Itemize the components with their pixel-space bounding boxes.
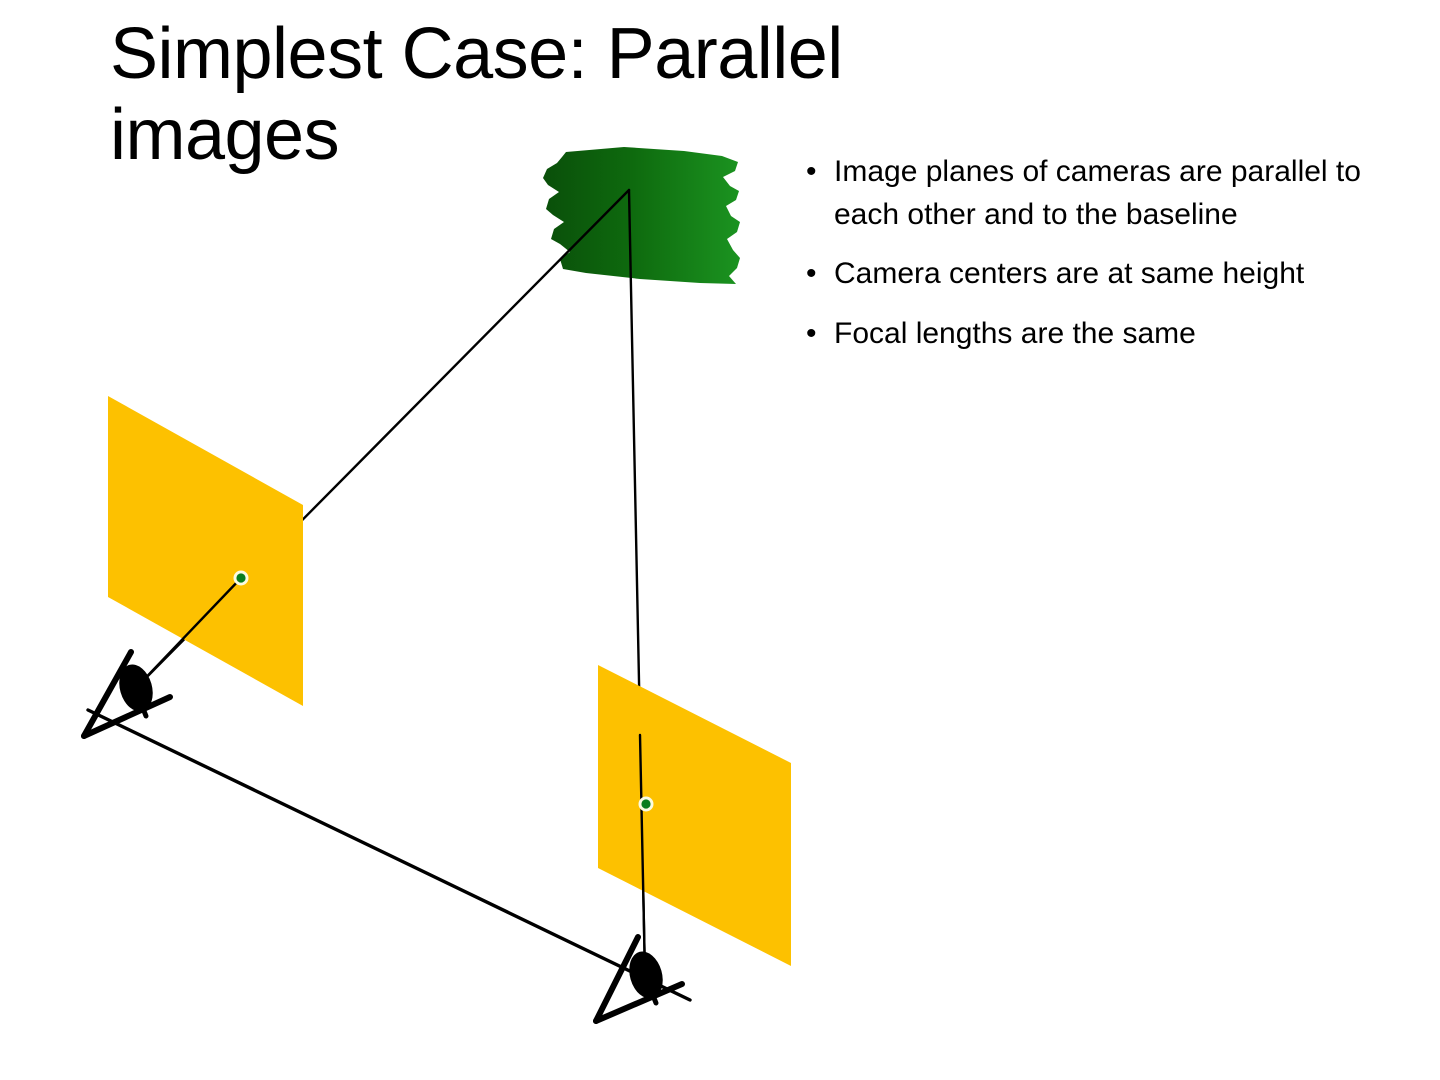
bullet-marker: • [806,312,817,355]
bullet-list: • Image planes of cameras are parallel t… [800,150,1400,371]
left-camera-pupil [114,661,158,716]
left-camera-ray [134,190,629,690]
bullet-marker: • [806,150,817,193]
right-image-point [641,799,650,808]
right-camera-top-edge [596,937,638,1021]
right-camera-pupil [624,948,668,1003]
right-camera-ray [629,190,645,976]
slide-canvas: Simplest Case: Parallel images • Image p… [0,0,1440,1080]
bullet-text: Image planes of cameras are parallel to … [834,155,1361,231]
list-item: • Camera centers are at same height [800,252,1400,295]
left-image-plane [108,396,303,706]
right-camera-icon [596,937,682,1021]
bullet-text: Camera centers are at same height [834,257,1304,290]
right-camera-stem [652,993,656,1003]
list-item: • Focal lengths are the same [800,312,1400,355]
left-ray-on-plane [134,578,241,690]
baseline-segment [88,710,690,1000]
left-camera-top-edge [84,652,131,736]
right-ray-on-plane [640,735,645,976]
right-image-point-halo [639,797,654,812]
right-image-plane [598,665,791,966]
bullet-marker: • [806,252,817,295]
right-camera-base-edge [596,984,682,1021]
left-camera-icon [84,652,170,736]
left-image-point [236,573,245,582]
list-item: • Image planes of cameras are parallel t… [800,150,1400,236]
left-image-point-halo [234,571,249,586]
bullet-text: Focal lengths are the same [834,317,1196,350]
left-camera-stem [142,706,146,716]
left-camera-base-edge [84,697,170,736]
